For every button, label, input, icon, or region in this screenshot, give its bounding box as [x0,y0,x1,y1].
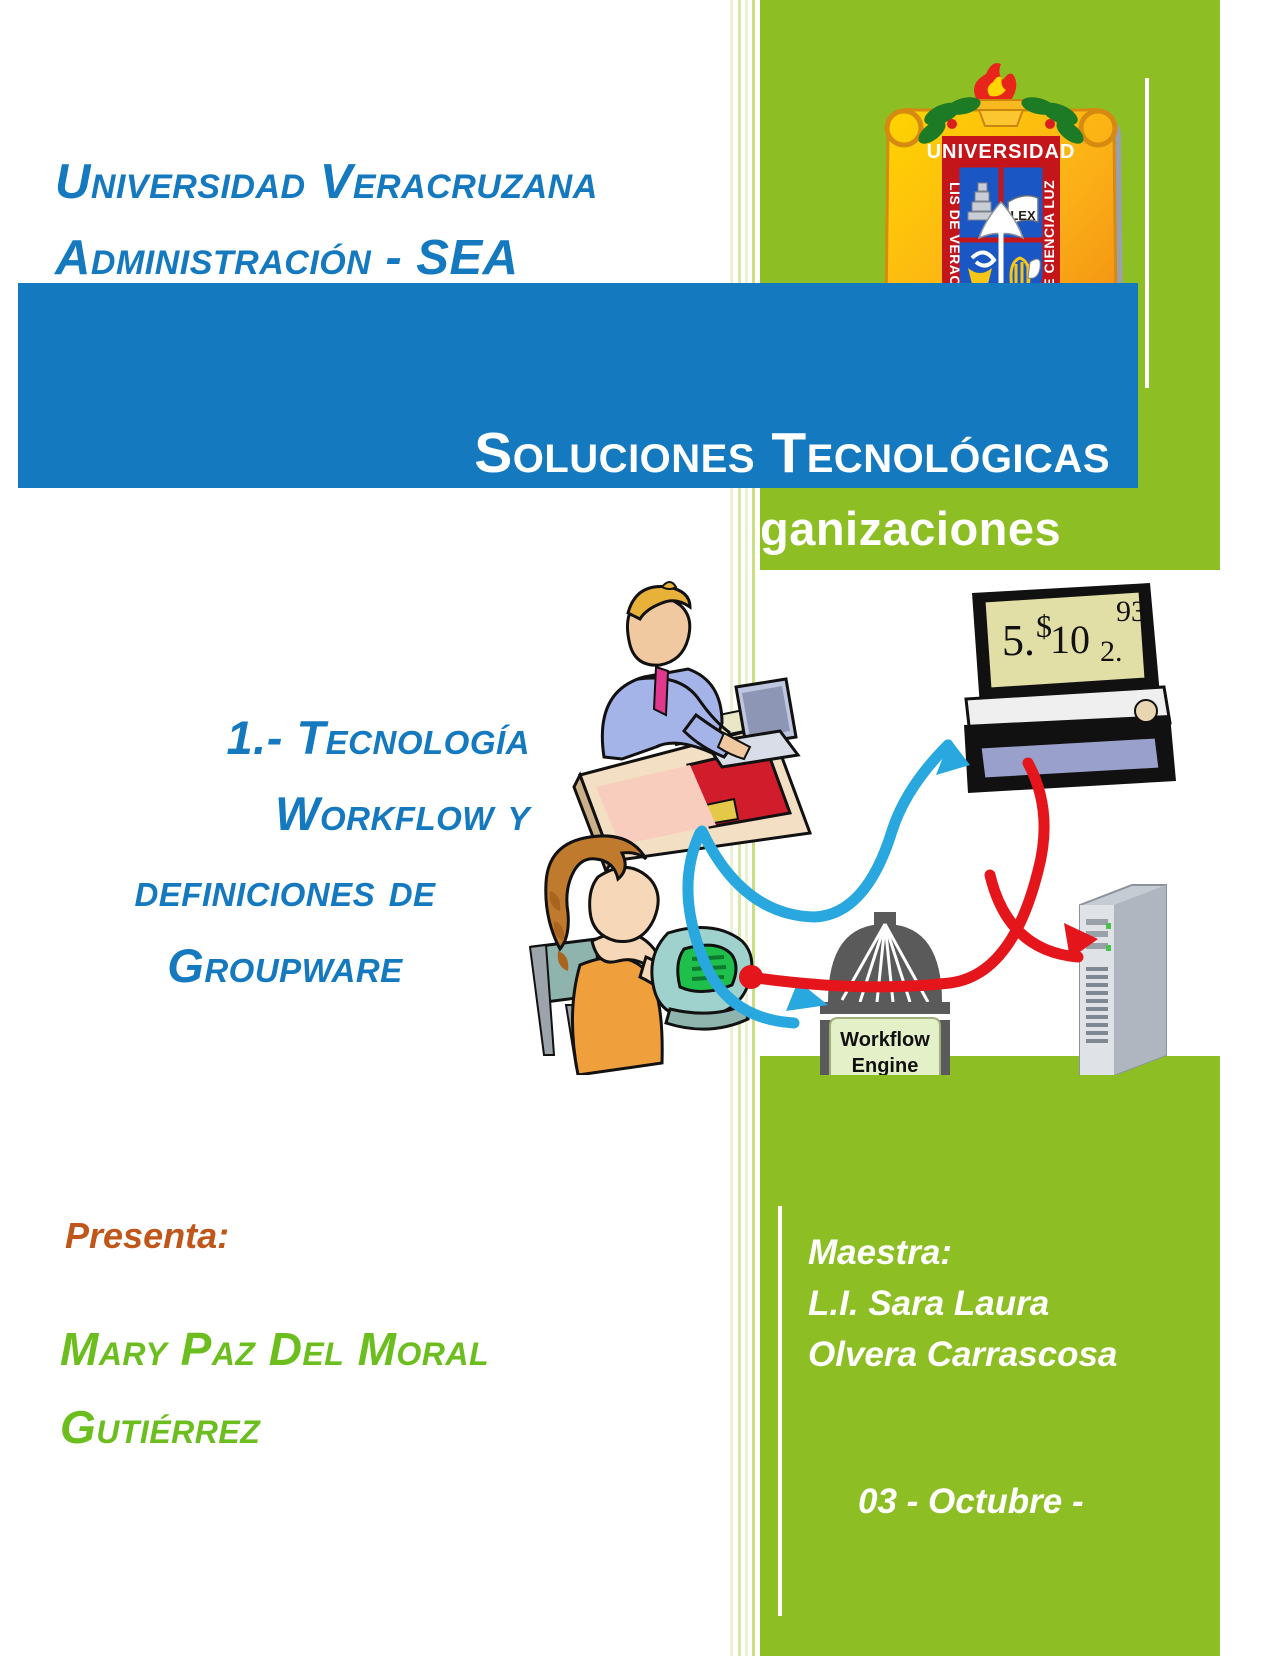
presenter-name-line-2: Gutiérrez [60,1388,680,1466]
section-title-line-4: Groupware [40,928,530,1004]
presenter-name-line-1: Mary Paz Del Moral [60,1310,680,1388]
section-title: 1.- Tecnología Workflow y definiciones d… [40,700,530,1005]
svg-text:UNIVERSIDAD: UNIVERSIDAD [927,141,1076,163]
teacher-name-line-1: L.I. Sara Laura [808,1279,1117,1330]
institution-line-1: Universidad Veracruzana [55,145,598,221]
teacher-name-line-2: Olvera Carrascosa [808,1330,1117,1381]
workflow-diagram-illustration: 5. $ 10 2. 93 Workflow Engine [520,575,1180,1075]
white-divider-line-bottom [778,1206,782,1616]
banner-subtitle-text: ganizaciones [760,505,1061,552]
presenter-name: Mary Paz Del Moral Gutiérrez [60,1310,680,1466]
engine-label-line2: Engine [852,1055,919,1075]
section-title-line-1: 1.- Tecnología [40,700,530,776]
engine-label-line1: Workflow [840,1029,930,1051]
svg-text:93: 93 [1116,595,1146,628]
svg-text:10: 10 [1050,617,1090,662]
institution-title: Universidad Veracruzana Administración -… [55,145,598,297]
svg-text:2.: 2. [1100,635,1123,668]
banner-title-text: Soluciones Tecnológicas [474,425,1110,482]
presentation-date: 03 - Octubre - [858,1482,1084,1522]
main-title-banner: Soluciones Tecnológicas [18,283,1138,488]
section-title-line-2: Workflow y [40,776,530,852]
svg-text:5.: 5. [1002,616,1035,665]
presenta-label: Presenta: [65,1215,229,1257]
teacher-block: Maestra: L.I. Sara Laura Olvera Carrasco… [808,1228,1117,1380]
section-title-line-3: definiciones de [40,852,530,928]
teacher-label: Maestra: [808,1228,1117,1279]
